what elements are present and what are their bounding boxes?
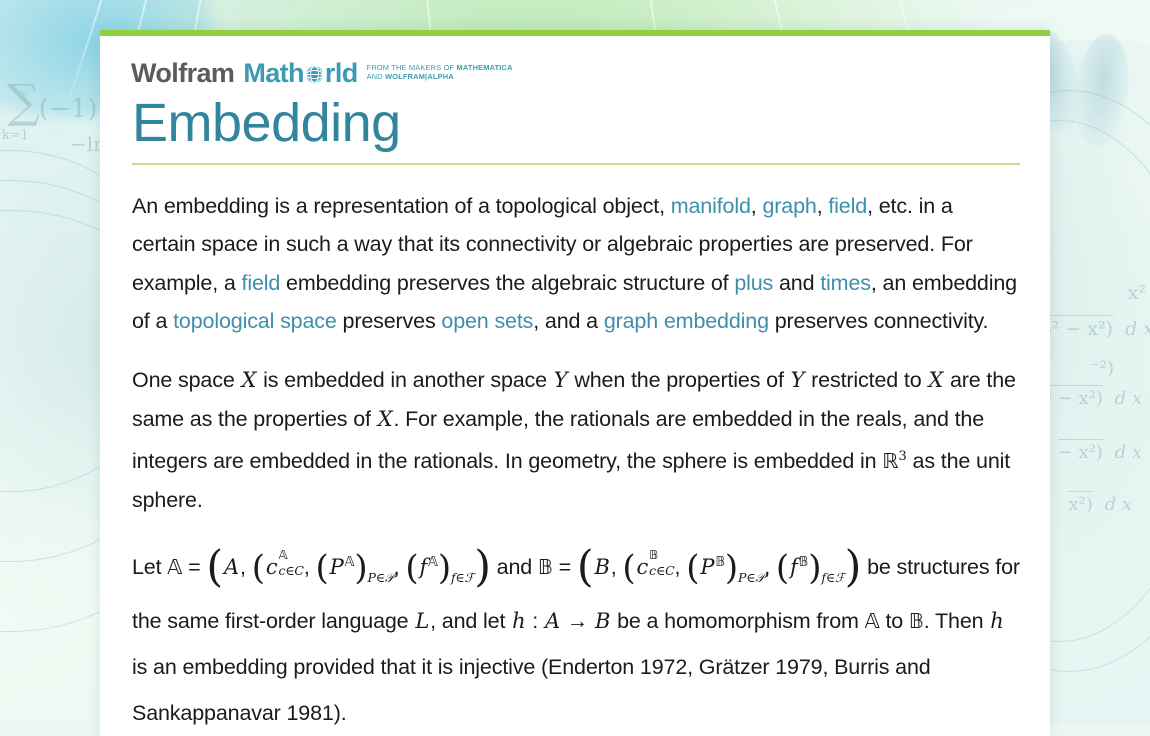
link-times[interactable]: times	[820, 271, 871, 295]
logo-tagline: FROM THE MAKERS OF MATHEMATICA AND WOLFR…	[367, 64, 513, 82]
math-constant-c: c	[636, 555, 650, 579]
logo-world-text: rld	[325, 58, 358, 89]
definition-paragraph: An embedding is a representation of a to…	[132, 187, 1020, 341]
math-structure-A: 𝔸	[167, 555, 182, 579]
page-title: Embedding	[132, 92, 1020, 155]
math-map-h: h	[511, 609, 526, 633]
link-plus[interactable]: plus	[734, 271, 773, 295]
logo-math-text: Math	[243, 58, 304, 89]
math-reals-symbol: ℝ	[882, 449, 898, 473]
link-graph-embedding[interactable]: graph embedding	[604, 309, 769, 333]
math-paren-open: (	[315, 548, 328, 588]
link-open-sets[interactable]: open sets	[441, 309, 533, 333]
structures-paragraph: Let 𝔸 = (A, (c𝔸c∈C, (P𝔸)P∈𝒫, (f𝔸)f∈ℱ) an…	[132, 540, 1020, 736]
math-paren-open: (	[206, 542, 223, 592]
math-paren-close: )	[845, 542, 862, 592]
math-relation-P: P	[699, 555, 715, 579]
background-formula-right-3: − x²) d x	[1058, 442, 1142, 463]
math-paren-close: )	[725, 548, 738, 588]
math-var-Y: Y	[790, 368, 806, 392]
link-field-2[interactable]: field	[242, 271, 281, 295]
globe-icon	[305, 60, 324, 79]
math-structure-B: 𝔹	[909, 609, 924, 633]
math-function-f: f	[418, 555, 428, 579]
logo-mathworld-text: Math rld	[243, 58, 357, 89]
site-logo[interactable]: Wolfram Math rld FROM THE MAKERS OF MATH…	[131, 58, 1020, 88]
math-P-sub: P∈𝒫	[738, 570, 764, 585]
math-P-sup-A: 𝔸	[345, 555, 355, 570]
math-var-X: X	[377, 407, 394, 431]
math-relation-P: P	[329, 555, 345, 579]
title-divider	[132, 163, 1020, 165]
math-f-sup-B: 𝔹	[799, 555, 809, 570]
math-c-sup-sub-A: 𝔸c∈C	[278, 551, 303, 577]
math-set-A: A	[223, 555, 240, 579]
math-paren-close: )	[438, 548, 451, 588]
math-var-X: X	[240, 368, 257, 392]
background-formula-right-1: x²	[1128, 282, 1146, 304]
math-function-f: f	[789, 555, 799, 579]
math-f-sub: f∈ℱ	[451, 570, 474, 585]
math-structure-A: 𝔸	[865, 609, 880, 633]
math-c-sup-sub-B: 𝔹c∈C	[649, 551, 674, 577]
math-paren-open: (	[252, 548, 265, 588]
math-P-sub: P∈𝒫	[367, 570, 393, 585]
math-constant-c: c	[265, 555, 279, 579]
math-paren-close: )	[474, 542, 491, 592]
math-set-A: A	[544, 609, 561, 633]
embedded-space-paragraph: One space X is embedded in another space…	[132, 361, 1020, 520]
background-formula-right-2: ⁻²)	[1090, 358, 1114, 379]
tagline-line-2: AND WOLFRAM|ALPHA	[367, 73, 513, 81]
link-field[interactable]: field	[828, 194, 867, 218]
article-card: Wolfram Math rld FROM THE MAKERS OF MATH…	[100, 30, 1050, 736]
math-P-sup-B: 𝔹	[715, 555, 725, 570]
math-set-B: B	[593, 555, 610, 579]
math-structure-B: 𝔹	[538, 555, 553, 579]
math-language-L: L	[414, 609, 430, 633]
math-set-B: B	[594, 609, 611, 633]
math-paren-close: )	[808, 548, 821, 588]
math-paren-open: (	[405, 548, 418, 588]
math-paren-close: )	[354, 548, 367, 588]
math-paren-open: (	[622, 548, 635, 588]
link-graph[interactable]: graph	[762, 194, 816, 218]
math-var-Y: Y	[553, 368, 569, 392]
math-var-X: X	[927, 368, 944, 392]
math-map-h: h	[989, 609, 1004, 633]
math-paren-open: (	[686, 548, 699, 588]
math-paren-open: (	[577, 542, 594, 592]
math-paren-open: (	[776, 548, 789, 588]
link-manifold[interactable]: manifold	[671, 194, 751, 218]
math-exponent-3: 3	[898, 449, 906, 464]
math-f-sub: f∈ℱ	[821, 570, 844, 585]
link-topological-space[interactable]: topological space	[173, 309, 337, 333]
logo-wolfram-text: Wolfram	[131, 58, 234, 89]
background-formula-right-2b: ² − x²) d x	[1045, 388, 1142, 409]
background-formula-right-4: x²) d x	[1068, 494, 1132, 515]
math-f-sup-A: 𝔸	[428, 555, 438, 570]
